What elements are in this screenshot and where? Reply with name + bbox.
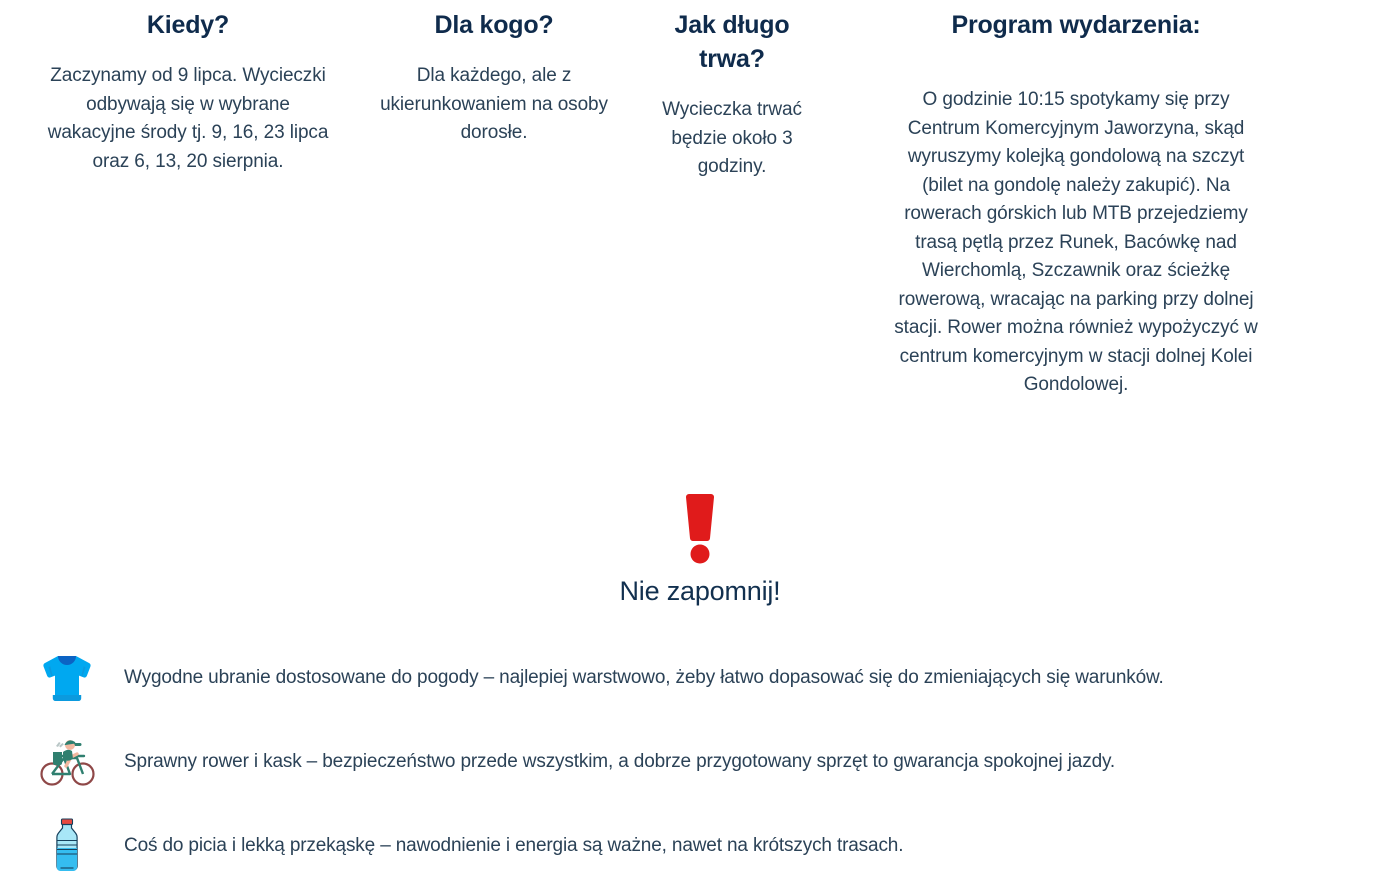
- column-body-kiedy: Zaczynamy od 9 lipca. Wycieczki odbywają…: [40, 62, 336, 176]
- reminder-section: Nie zapomnij!: [0, 492, 1400, 608]
- info-column-dla-kogo: Dla kogo? Dla każdego, ale z ukierunkowa…: [376, 0, 612, 148]
- info-column-kiedy: Kiedy? Zaczynamy od 9 lipca. Wycieczki o…: [0, 0, 376, 176]
- tshirt-icon: [38, 647, 96, 709]
- exclamation-mark-icon: [682, 492, 718, 564]
- checklist: Wygodne ubranie dostosowane do pogody – …: [0, 636, 1400, 888]
- column-title-jak-dlugo-trwa: Jak długo trwa?: [642, 8, 822, 76]
- cyclist-icon: [38, 731, 96, 793]
- column-body-dla-kogo: Dla każdego, ale z ukierunkowaniem na os…: [376, 62, 612, 148]
- list-item: Sprawny rower i kask – bezpieczeństwo pr…: [0, 720, 1400, 804]
- column-title-dla-kogo: Dla kogo?: [376, 8, 612, 42]
- column-title-kiedy: Kiedy?: [40, 8, 336, 42]
- info-column-program-wydarzenia: Program wydarzenia: O godzinie 10:15 spo…: [852, 0, 1300, 400]
- water-bottle-icon: [38, 815, 96, 877]
- list-item: Wygodne ubranie dostosowane do pogody – …: [0, 636, 1400, 720]
- column-body-jak-dlugo-trwa: Wycieczka trwać będzie około 3 godziny.: [642, 96, 822, 182]
- column-body-program-wydarzenia: O godzinie 10:15 spotykamy się przy Cent…: [892, 86, 1260, 400]
- checklist-item-text: Coś do picia i lekką przekąskę – nawodni…: [124, 833, 903, 859]
- column-title-program-wydarzenia: Program wydarzenia:: [892, 8, 1260, 42]
- info-columns: Kiedy? Zaczynamy od 9 lipca. Wycieczki o…: [0, 0, 1400, 400]
- reminder-title: Nie zapomnij!: [0, 574, 1400, 608]
- checklist-item-text: Wygodne ubranie dostosowane do pogody – …: [124, 665, 1164, 691]
- info-column-jak-dlugo-trwa: Jak długo trwa? Wycieczka trwać będzie o…: [612, 0, 852, 182]
- list-item: Coś do picia i lekką przekąskę – nawodni…: [0, 804, 1400, 888]
- checklist-item-text: Sprawny rower i kask – bezpieczeństwo pr…: [124, 749, 1115, 775]
